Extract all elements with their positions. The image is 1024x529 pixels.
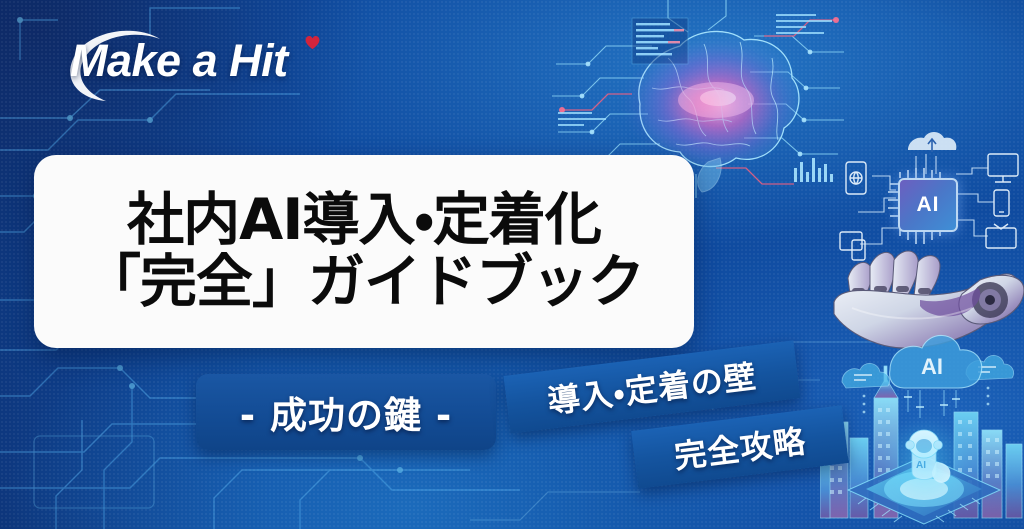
brand-logo[interactable]: Make a Hit — [36, 33, 336, 99]
title-line-1: 社内AI導入・定着化 — [127, 191, 601, 250]
heart-icon — [304, 35, 321, 50]
success-key-label: - 成功の鍵 - — [240, 385, 452, 439]
title-card: 社内AI導入・定着化 「完全」ガイドブック — [34, 155, 694, 348]
conquer-banner-label: 完全攻略 — [672, 416, 809, 478]
brand-logo-text: Make a Hit — [70, 35, 288, 87]
success-key-banner: - 成功の鍵 - — [196, 374, 496, 450]
title-line-2: 「完全」ガイドブック — [84, 253, 644, 312]
banner-canvas: AI — [0, 0, 1024, 529]
